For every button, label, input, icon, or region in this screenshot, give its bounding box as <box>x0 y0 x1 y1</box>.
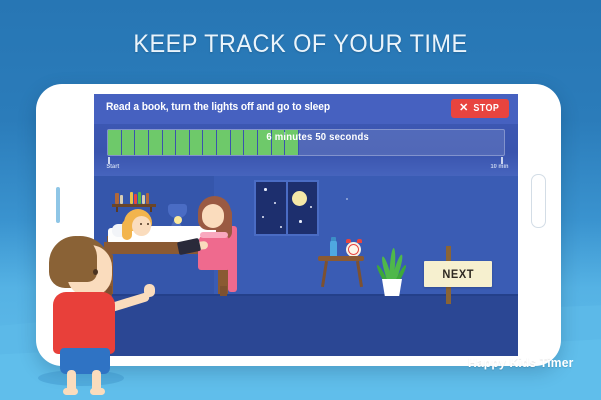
child-eye <box>140 223 142 225</box>
stop-button[interactable]: ✕ STOP <box>451 99 509 118</box>
book-item <box>142 195 145 204</box>
star-icon <box>274 202 276 204</box>
promo-banner: KEEP TRACK OF YOUR TIME Read a book, tur… <box>0 0 601 400</box>
shelf-bracket <box>116 207 118 212</box>
boy-foot <box>90 388 105 395</box>
room-floor <box>94 294 518 356</box>
lamp-bulb-icon <box>174 216 182 224</box>
close-x-icon: ✕ <box>459 103 468 114</box>
parent-collar <box>200 232 228 238</box>
book-item <box>130 192 133 204</box>
boy-hand <box>144 284 155 297</box>
window-frame-divider <box>286 180 288 236</box>
moon-icon <box>292 191 307 206</box>
time-remaining-text: 6 minutes 50 seconds <box>217 132 369 143</box>
boy-shirt <box>53 292 115 354</box>
water-bottle <box>330 240 337 257</box>
book-item <box>134 194 137 204</box>
floor-baseboard <box>94 294 518 296</box>
star-icon <box>299 220 302 223</box>
bedtime-scene: NEXT <box>94 176 518 356</box>
child-face <box>132 216 151 236</box>
time-remaining-overlay: 6 minutes 50 seconds <box>104 124 482 151</box>
next-button-label: NEXT <box>442 267 474 281</box>
boy-character <box>40 236 136 386</box>
volume-button[interactable] <box>56 187 60 223</box>
plant-pot <box>382 279 402 296</box>
clock-face <box>349 245 358 254</box>
star-icon <box>310 206 312 208</box>
task-title: Read a book, turn the lights off and go … <box>106 101 330 113</box>
boy-hair-front <box>49 236 97 282</box>
progress-tick-start <box>108 157 110 164</box>
bed-leg <box>220 286 227 296</box>
book-item <box>138 192 141 204</box>
progress-panel: 6 minutes 50 seconds Start 10 min <box>94 124 518 176</box>
progress-tick-end <box>501 157 503 164</box>
boy-foot <box>63 388 78 395</box>
child-eye <box>147 223 149 225</box>
page-title: KEEP TRACK OF YOUR TIME <box>18 30 583 59</box>
parent-face <box>202 204 224 228</box>
star-icon <box>346 198 348 200</box>
progress-start-label: Start <box>106 164 119 170</box>
brand-logo-text: Happy Kids Timer <box>467 355 573 370</box>
progress-end-label: 10 min <box>490 164 508 170</box>
star-icon <box>262 216 264 218</box>
boy-ear <box>93 269 98 275</box>
bottle-cap <box>331 237 336 241</box>
book-item <box>146 193 149 204</box>
shelf-bracket <box>150 207 152 212</box>
star-icon <box>280 226 282 228</box>
star-icon <box>264 188 267 191</box>
next-button[interactable]: NEXT <box>424 261 492 287</box>
app-header-bar: Read a book, turn the lights off and go … <box>94 94 518 124</box>
book-item <box>120 195 123 204</box>
phone-screen: Read a book, turn the lights off and go … <box>94 94 518 356</box>
stop-button-label: STOP <box>474 103 500 114</box>
power-button[interactable] <box>531 174 546 228</box>
book-item <box>115 193 119 204</box>
